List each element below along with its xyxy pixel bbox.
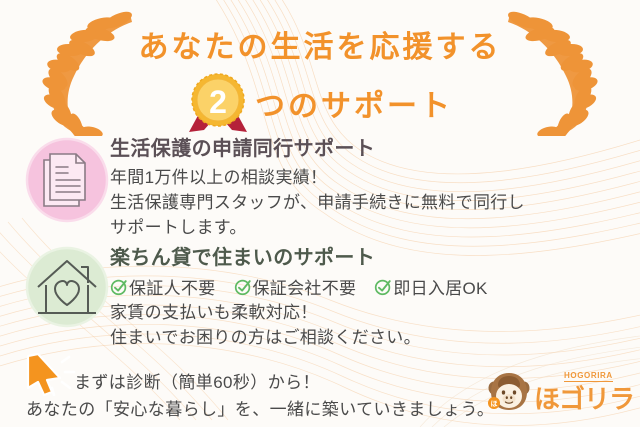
support-item-welfare-application: 生活保護の申請同行サポート 年間1万件以上の相談実績！ 生活保護専門スタッフが、… bbox=[24, 134, 624, 240]
click-cursor-icon bbox=[22, 352, 78, 396]
logo-wordmark: HOGORIRA ほゴリラ bbox=[534, 370, 626, 414]
banner-header: あなたの生活を応援する 2 つのサポート bbox=[0, 0, 640, 130]
banner-footer: まずは診断（簡単60秒）から！ あなたの「安心な暮らし」を、一緒に築いていきまし… bbox=[0, 348, 640, 427]
support-line: 年間1万件以上の相談実績！ bbox=[110, 165, 624, 190]
promo-banner: あなたの生活を応援する 2 つのサポート bbox=[0, 0, 640, 427]
support-item-housing: 楽ちん貸で住まいのサポート 保証人不要 保証会社不要 bbox=[24, 243, 624, 350]
footer-line-1: まずは診断（簡単60秒）から！ bbox=[74, 368, 320, 393]
check-circle-icon bbox=[110, 278, 128, 296]
feature-check-list: 保証人不要 保証会社不要 即日入居OK bbox=[110, 274, 624, 299]
svg-text:ほ: ほ bbox=[491, 400, 498, 408]
feature-check-label: 保証会社不要 bbox=[253, 274, 357, 299]
support-title: 生活保護の申請同行サポート bbox=[110, 137, 624, 162]
support-item-body: 生活保護の申請同行サポート 年間1万件以上の相談実績！ 生活保護専門スタッフが、… bbox=[110, 134, 624, 240]
check-circle-icon bbox=[374, 278, 392, 296]
logo-jp-text: ほゴリラ bbox=[534, 379, 634, 416]
feature-check-item: 保証会社不要 bbox=[234, 274, 357, 299]
support-item-body: 楽ちん貸で住まいのサポート 保証人不要 保証会社不要 bbox=[110, 243, 624, 350]
feature-check-item: 保証人不要 bbox=[110, 274, 216, 299]
support-title: 楽ちん貸で住まいのサポート bbox=[110, 246, 624, 271]
support-line: サポートします。 bbox=[110, 215, 624, 240]
medal-number: 2 bbox=[209, 84, 227, 120]
support-line: 家賃の支払いも柔軟対応！ bbox=[110, 300, 624, 325]
check-circle-icon bbox=[234, 278, 252, 296]
feature-check-item: 即日入居OK bbox=[374, 274, 487, 299]
gorilla-mascot-icon: ほ bbox=[487, 371, 531, 413]
feature-check-label: 保証人不要 bbox=[129, 274, 216, 299]
headline-line-2-text: つのサポート bbox=[255, 81, 453, 125]
medal-ribbon-icon: 2 bbox=[187, 72, 253, 134]
feature-check-label: 即日入居OK bbox=[393, 274, 487, 299]
footer-line-2: あなたの「安心な暮らし」を、一緒に築いていきましょう。 bbox=[26, 395, 494, 420]
brand-logo[interactable]: ほ HOGORIRA ほゴリラ bbox=[487, 370, 626, 414]
headline-line-2-group: 2 つのサポート bbox=[0, 72, 640, 134]
support-line: 生活保護専門スタッフが、申請手続きに無料で同行し bbox=[110, 190, 624, 215]
documents-icon bbox=[24, 134, 110, 226]
support-line: 住まいでお困りの方はご相談ください。 bbox=[110, 325, 624, 350]
headline-line-1: あなたの生活を応援する bbox=[0, 22, 640, 66]
house-heart-icon bbox=[24, 243, 110, 335]
